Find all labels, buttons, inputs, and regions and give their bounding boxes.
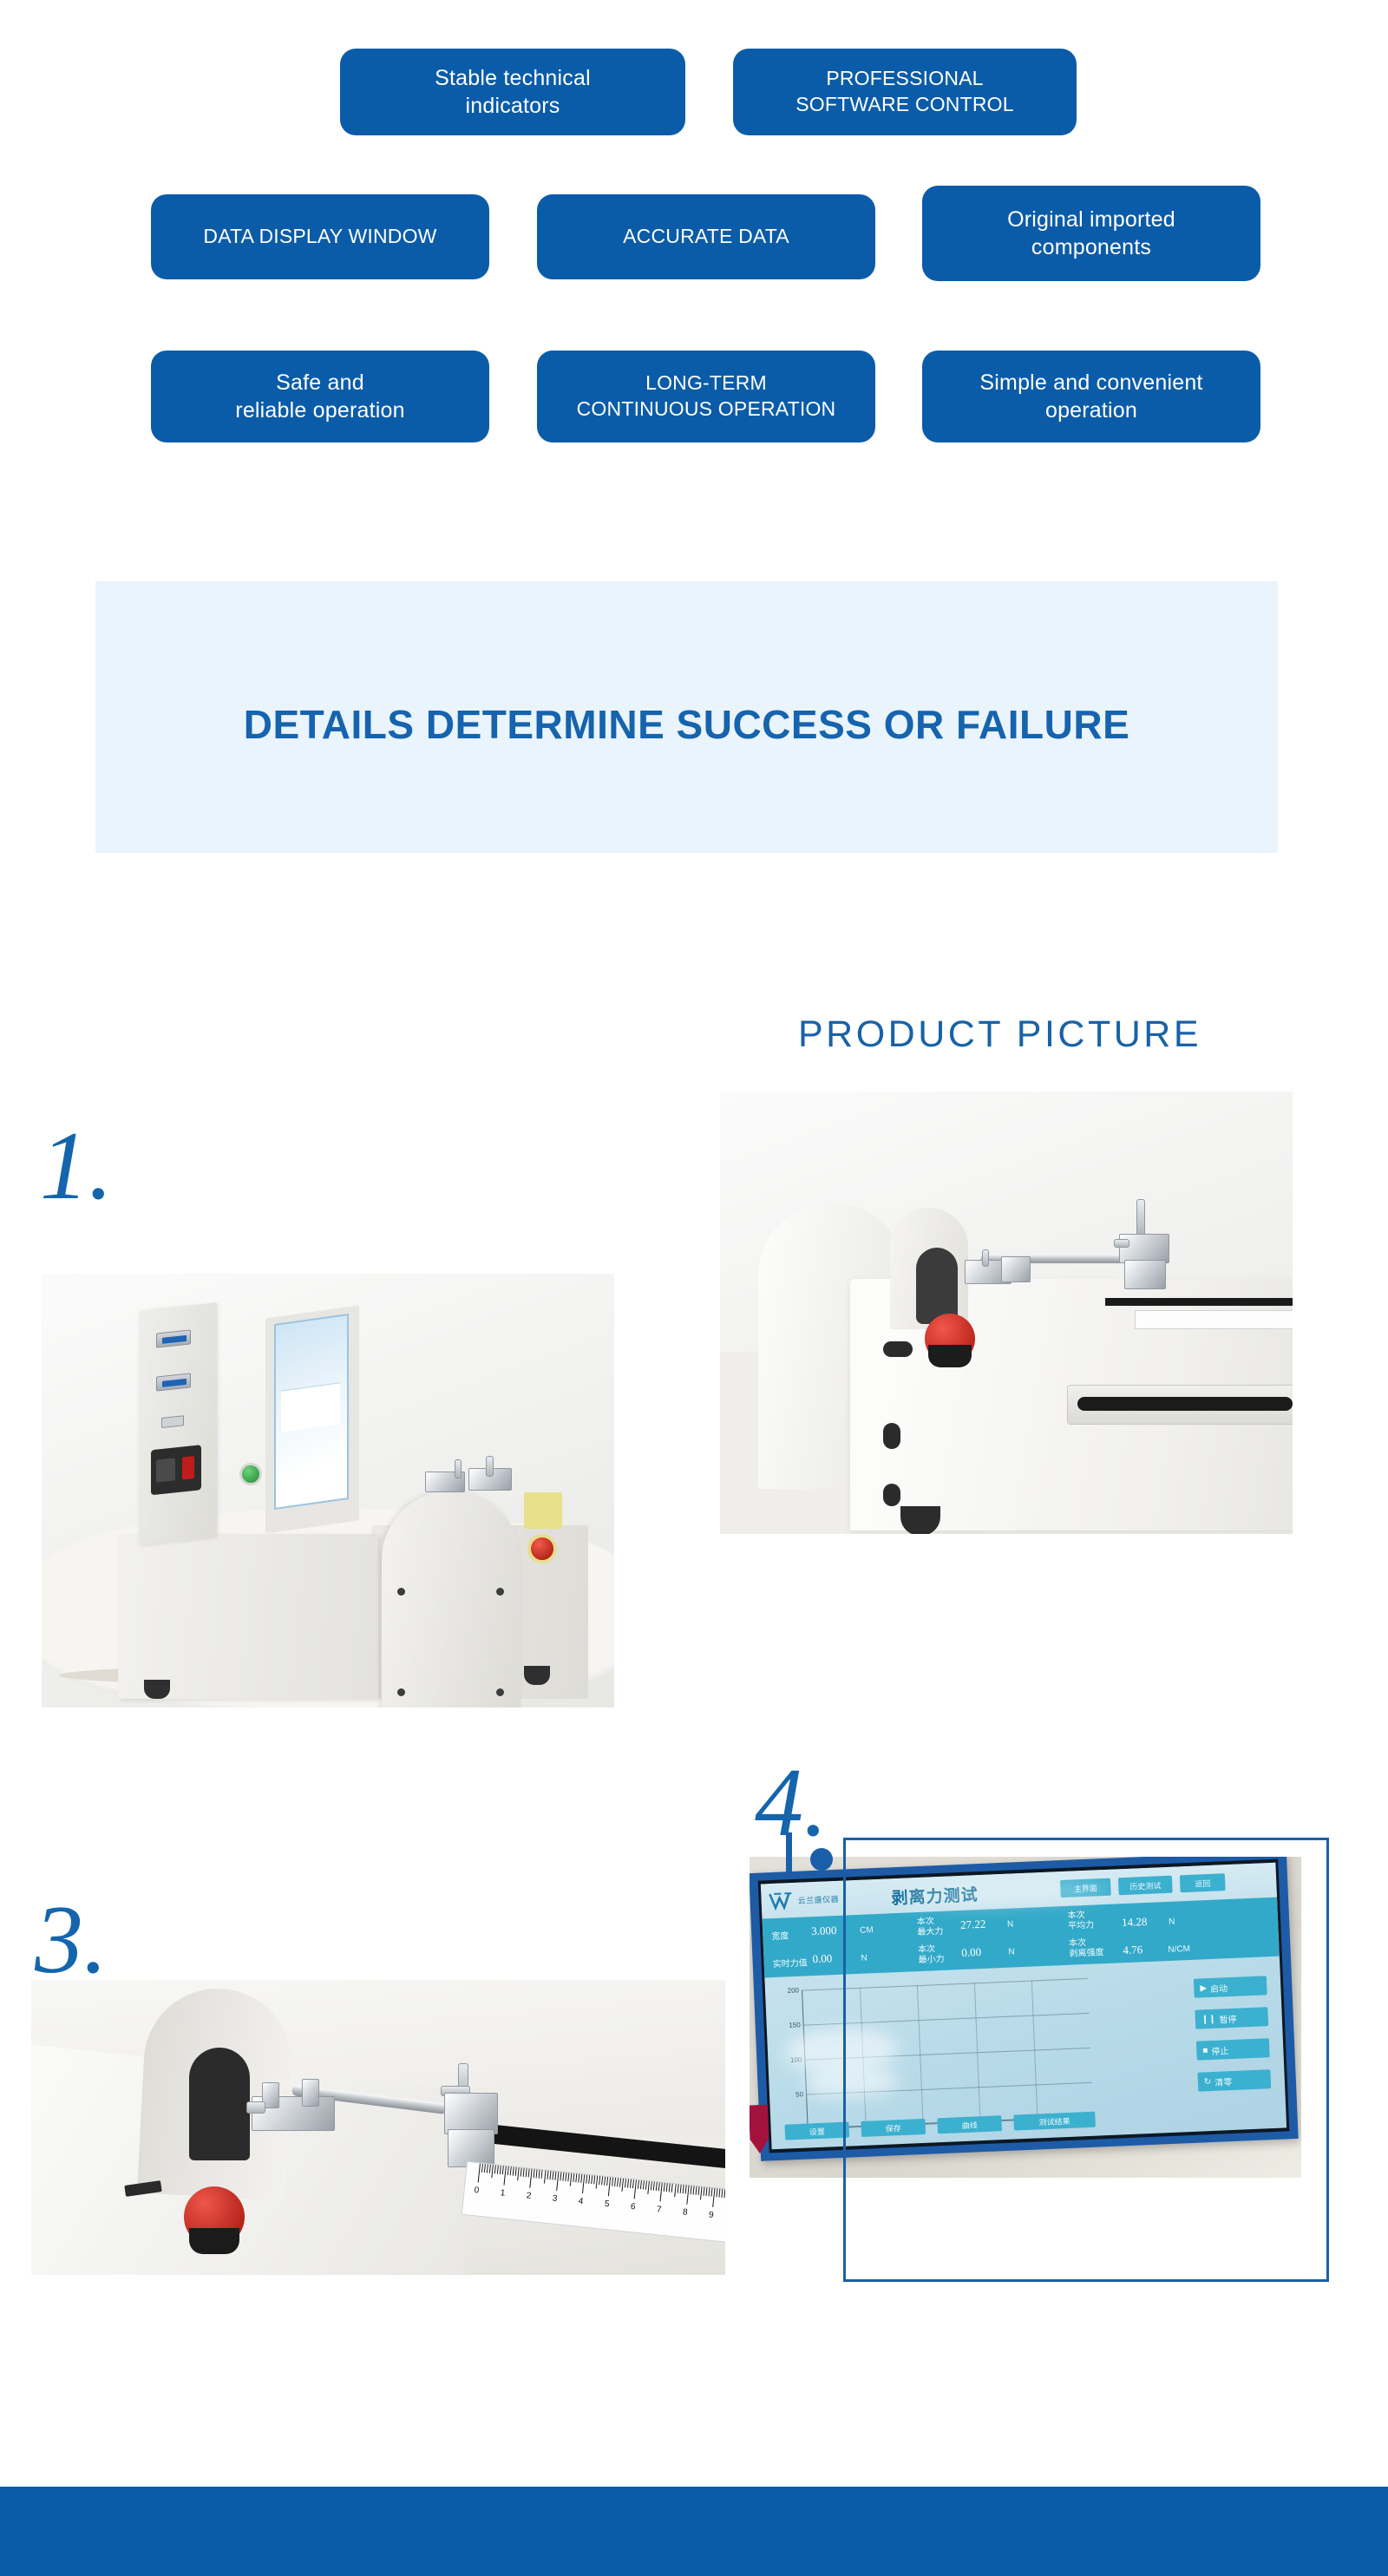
specimen-grip-assembly <box>425 1459 515 1496</box>
machine-io-panel <box>139 1302 217 1544</box>
emergency-stop-button[interactable] <box>527 1534 557 1563</box>
readout-label-live-force: 实时力值 <box>772 1955 808 1970</box>
feature-pill-stable-technical-indicators[interactable]: Stable technical indicators <box>340 49 685 135</box>
footer-bar <box>0 2487 1388 2576</box>
ruler-number: 3 <box>552 2193 558 2204</box>
decorative-tick <box>786 1832 792 1872</box>
product-photo-3-clamp-closeup: 012345678910 <box>31 1980 725 2275</box>
readout-value-width: 3.000 <box>811 1924 837 1938</box>
brand-logo-icon <box>768 1891 795 1911</box>
pause-icon: ❙❙ <box>1201 2014 1216 2024</box>
footer-btn-settings[interactable]: 设置 <box>784 2122 849 2140</box>
chart-btn-stop-label: 停止 <box>1211 2043 1229 2057</box>
readout-value-min-force: 0.00 <box>961 1945 981 1960</box>
readout-label-min-force: 本次 最小力 <box>918 1944 945 1965</box>
feature-pill-professional-software-control[interactable]: PROFESSIONAL SOFTWARE CONTROL <box>733 49 1077 135</box>
feature-pill-simple-convenient-operation[interactable]: Simple and convenient operation <box>922 351 1260 442</box>
product-photo-4-software-screen: 云兰盛仪器 剥离力测试 主界面 历史测试 返回 宽度 3.000 CM 本次 最… <box>750 1857 1301 2178</box>
ruler-number: 0 <box>474 2186 480 2196</box>
upper-clamp <box>1112 1199 1178 1301</box>
photo-numeral-3: 3. <box>35 1891 108 1989</box>
power-indicator-lamp <box>239 1463 262 1485</box>
readout-value-max-force: 27.22 <box>960 1917 986 1932</box>
feature-pill-safe-reliable-operation[interactable]: Safe and reliable operation <box>151 351 489 442</box>
chart-btn-pause-label: 暂停 <box>1219 2011 1237 2025</box>
decorative-dot <box>810 1848 833 1871</box>
readout-value-peel-strength: 4.76 <box>1123 1943 1142 1957</box>
ruler-number: 5 <box>604 2199 610 2210</box>
chart-btn-zero[interactable]: ↻ 清零 <box>1197 2069 1271 2091</box>
machine-dome-cover <box>382 1491 520 1708</box>
chart-btn-start[interactable]: ▶ 启动 <box>1194 1976 1267 1997</box>
ruler-number: 4 <box>578 2197 584 2207</box>
reset-icon: ↻ <box>1204 2077 1212 2087</box>
feature-pill-accurate-data[interactable]: ACCURATE DATA <box>537 194 875 279</box>
chart-btn-stop[interactable]: ■ 停止 <box>1196 2038 1270 2060</box>
product-photo-1-machine-front <box>42 1274 614 1708</box>
readout-label-peel-strength: 本次 剥离强度 <box>1069 1937 1104 1959</box>
readout-unit-avg-force: N <box>1169 1917 1175 1927</box>
footer-btn-save[interactable]: 保存 <box>861 2119 926 2137</box>
feature-pill-long-term-continuous-operation[interactable]: LONG-TERM CONTINUOUS OPERATION <box>537 351 875 442</box>
readout-unit-max-force: N <box>1007 1919 1014 1929</box>
ruler-number: 8 <box>682 2207 688 2218</box>
readout-unit-width: CM <box>860 1925 874 1936</box>
slogan-headline: DETAILS DETERMINE SUCCESS OR FAILURE <box>95 701 1278 748</box>
chart-btn-pause[interactable]: ❙❙ 暂停 <box>1195 2007 1268 2029</box>
readout-value-avg-force: 14.28 <box>1122 1915 1148 1930</box>
chart-y-tick-label: 50 <box>795 2090 803 2098</box>
chart-btn-zero-label: 清零 <box>1214 2075 1233 2088</box>
chart-y-tick-label: 150 <box>789 2021 801 2029</box>
feature-pill-data-display-window[interactable]: DATA DISPLAY WINDOW <box>151 194 489 279</box>
brand-name: 云兰盛仪器 <box>797 1892 839 1905</box>
readout-unit-live-force: N <box>861 1954 867 1963</box>
page-root: Stable technical indicators PROFESSIONAL… <box>0 0 1388 2576</box>
product-photo-2-machine-side <box>720 1091 1293 1534</box>
footer-btn-curve[interactable]: 曲线 <box>937 2115 1002 2134</box>
ruler-number: 2 <box>526 2191 532 2201</box>
chart-btn-start-label: 启动 <box>1210 1981 1228 1995</box>
readout-value-live-force: 0.00 <box>812 1951 832 1966</box>
readout-label-width: 宽度 <box>771 1928 789 1942</box>
ruler-number: 9 <box>708 2210 714 2220</box>
photo-numeral-1: 1. <box>40 1118 113 1215</box>
peel-test-application: 云兰盛仪器 剥离力测试 主界面 历史测试 返回 宽度 3.000 CM 本次 最… <box>761 1863 1287 2150</box>
ruler-number: 6 <box>630 2202 636 2212</box>
product-picture-title: PRODUCT PICTURE <box>798 1013 1201 1056</box>
footer-btn-results[interactable]: 测试结果 <box>1013 2112 1096 2131</box>
readout-unit-peel-strength: N/CM <box>1168 1944 1190 1955</box>
stop-icon: ■ <box>1202 2046 1208 2055</box>
chart-y-tick-label: 200 <box>787 1986 799 1995</box>
play-icon: ▶ <box>1200 1983 1207 1993</box>
monitor-frame: 云兰盛仪器 剥离力测试 主界面 历史测试 返回 宽度 3.000 CM 本次 最… <box>750 1857 1299 2161</box>
toolbar-btn-history[interactable]: 历史测试 <box>1118 1876 1173 1896</box>
measuring-ruler <box>1135 1310 1293 1329</box>
readout-label-max-force: 本次 最大力 <box>917 1917 944 1937</box>
readout-label-avg-force: 本次 平均力 <box>1067 1911 1094 1931</box>
readout-unit-min-force: N <box>1008 1947 1015 1957</box>
lower-clamp <box>965 1249 1032 1291</box>
feature-pill-original-imported-components[interactable]: Original imported components <box>922 186 1260 281</box>
slogan-banner: DETAILS DETERMINE SUCCESS OR FAILURE <box>95 581 1278 853</box>
ruler-number: 7 <box>656 2205 662 2215</box>
ruler-number: 1 <box>500 2188 506 2199</box>
toolbar-btn-back[interactable]: 返回 <box>1180 1873 1226 1892</box>
lower-clamp <box>246 2079 342 2150</box>
upper-clamp <box>439 2063 514 2174</box>
